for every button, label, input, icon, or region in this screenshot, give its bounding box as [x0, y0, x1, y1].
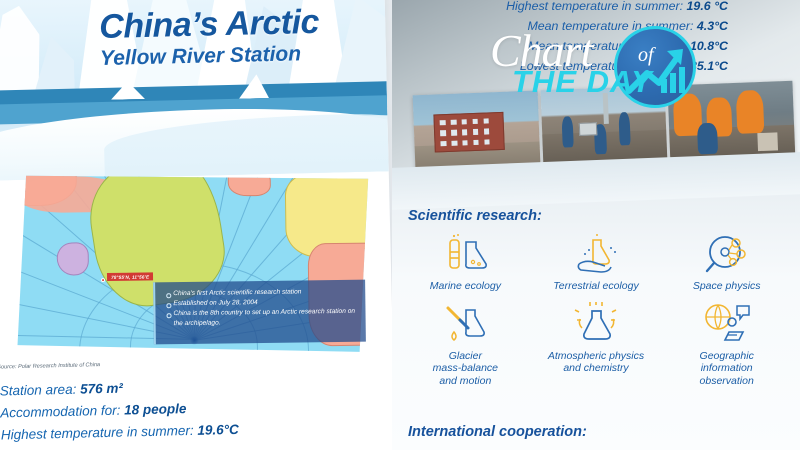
research-item-label: Glacier mass-balance and motion — [402, 350, 529, 387]
stat-label: Highest temperature in summer: — [1, 423, 194, 443]
flask-test-tube-icon — [402, 232, 529, 278]
temperature-value: 4.3°C — [697, 19, 728, 33]
research-item-glacier-mass-balance[interactable]: Glacier mass-balance and motion — [400, 300, 531, 387]
research-icons-grid: Marine ecology Terrestrial ecolog — [400, 232, 792, 387]
research-row-2: Glacier mass-balance and motion Atmosphe… — [400, 300, 792, 387]
arctic-map: 78°55'N, 11°56'E China's first Arctic sc… — [12, 168, 374, 359]
scientific-research-title: Scientific research: — [408, 208, 542, 224]
research-row-1: Marine ecology Terrestrial ecolog — [400, 232, 792, 292]
globe-computer-icon — [663, 300, 790, 348]
chart-of-the-day-logo: Chart of THE DAY — [490, 16, 690, 108]
infographic-root: China’s Arctic Yellow River Station — [0, 0, 800, 450]
stat-value: 576 m² — [80, 381, 123, 397]
station-building — [433, 112, 504, 152]
magnifier-molecule-icon — [663, 232, 790, 278]
stat-row: Highest temperature in summer: 19.6°C — [1, 419, 239, 446]
temperature-value: 19.6 °C — [687, 0, 728, 13]
left-panel: China’s Arctic Yellow River Station — [0, 0, 396, 450]
station-coordinates-label: 78°55'N, 11°56'E — [107, 273, 153, 282]
research-item-space-physics[interactable]: Space physics — [661, 232, 792, 292]
map-land-iceland — [57, 242, 90, 276]
list-item: China is the 8th country to set up an Ar… — [166, 307, 356, 328]
research-item-label: Space physics — [663, 280, 790, 292]
page-title: China’s Arctic Yellow River Station — [99, 5, 320, 71]
right-panel: Highest temperature in summer: 19.6 °C M… — [392, 0, 800, 450]
map-source-credit: Source: Polar Research Institute of Chin… — [0, 362, 100, 370]
hand-flask-icon — [533, 232, 660, 278]
stat-value: 19.6°C — [197, 422, 239, 438]
arctic-illustration: China’s Arctic Yellow River Station — [0, 0, 389, 181]
research-item-label: Atmospheric physics and chemistry — [533, 350, 660, 374]
station-stats: Station area: 576 m² Accommodation for: … — [0, 375, 239, 446]
international-cooperation-title: International cooperation: — [408, 424, 587, 440]
stat-label: Accommodation for: — [0, 403, 120, 421]
flask-rays-icon — [533, 300, 660, 348]
research-item-label: Terrestrial ecology — [533, 280, 660, 292]
temperature-label: Highest temperature in summer: — [506, 0, 683, 13]
logo-word-day: THE DAY — [512, 64, 653, 100]
research-item-label: Geographic information observation — [663, 350, 790, 387]
stat-value: 18 people — [124, 401, 187, 417]
research-item-terrestrial-ecology[interactable]: Terrestrial ecology — [531, 232, 662, 292]
title-main: China’s Arctic — [99, 5, 320, 45]
map-callout-box: China's first Arctic scientific research… — [153, 280, 366, 345]
temperature-row: Highest temperature in summer: 19.6 °C — [398, 0, 728, 16]
station-location-dot — [101, 278, 105, 282]
research-item-marine-ecology[interactable]: Marine ecology — [400, 232, 531, 292]
stat-label: Station area: — [0, 382, 77, 399]
research-item-geographic-information[interactable]: Geographic information observation — [661, 300, 792, 387]
research-item-atmospheric-physics[interactable]: Atmospheric physics and chemistry — [531, 300, 662, 387]
research-item-label: Marine ecology — [402, 280, 529, 292]
map-land-svalbard — [227, 168, 270, 197]
flask-dropper-icon — [402, 300, 529, 348]
